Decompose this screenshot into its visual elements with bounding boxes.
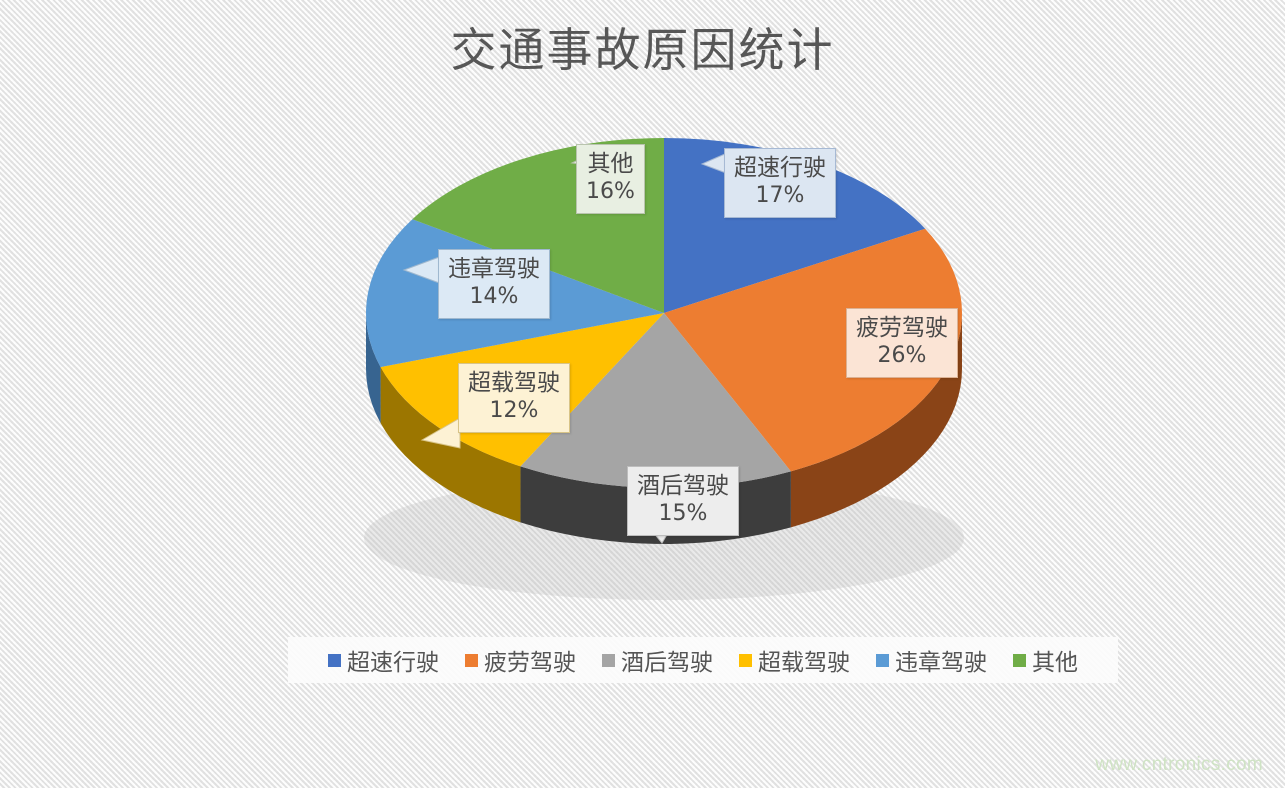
data-label-other-value: 16% (586, 179, 635, 206)
legend-item-label: 违章驾驶 (895, 643, 987, 677)
legend-swatch-icon (739, 654, 752, 667)
legend-item[interactable]: 疲劳驾驶 (465, 643, 576, 677)
chart-canvas: 交通事故原因统计 (0, 0, 1285, 788)
data-label-drunk-name: 酒后驾驶 (637, 472, 729, 500)
watermark: www.cntronics.com (1095, 754, 1263, 776)
legend-item-label: 超速行驶 (347, 643, 439, 677)
legend-swatch-icon (328, 654, 341, 667)
data-label-fatigue: 疲劳驾驶 26% (846, 308, 958, 378)
legend-item[interactable]: 超速行驶 (328, 643, 439, 677)
legend-swatch-icon (876, 654, 889, 667)
data-label-violation: 违章驾驶 14% (438, 249, 550, 319)
data-label-speeding-value: 17% (734, 183, 826, 210)
data-label-other: 其他 16% (576, 144, 645, 214)
data-label-violation-value: 14% (448, 284, 540, 311)
data-label-overload: 超载驾驶 12% (458, 363, 570, 433)
legend-swatch-icon (1013, 654, 1026, 667)
data-label-fatigue-value: 26% (856, 343, 948, 370)
chart-legend: 超速行驶疲劳驾驶酒后驾驶超载驾驶违章驾驶其他 (288, 637, 1118, 683)
data-label-other-name: 其他 (586, 150, 635, 178)
data-label-drunk-value: 15% (637, 501, 729, 528)
legend-swatch-icon (602, 654, 615, 667)
legend-item[interactable]: 超载驾驶 (739, 643, 850, 677)
legend-item-label: 超载驾驶 (758, 643, 850, 677)
legend-item-label: 其他 (1032, 643, 1078, 677)
data-label-overload-name: 超载驾驶 (468, 369, 560, 397)
legend-swatch-icon (465, 654, 478, 667)
legend-item-label: 疲劳驾驶 (484, 643, 576, 677)
legend-item[interactable]: 其他 (1013, 643, 1078, 677)
legend-item[interactable]: 违章驾驶 (876, 643, 987, 677)
data-label-overload-value: 12% (468, 398, 560, 425)
data-label-violation-name: 违章驾驶 (448, 255, 540, 283)
legend-item-label: 酒后驾驶 (621, 643, 713, 677)
pie-chart: 超速行驶 17% 疲劳驾驶 26% 酒后驾驶 15% 超载驾驶 12% 违章驾驶… (362, 118, 968, 618)
data-label-fatigue-name: 疲劳驾驶 (856, 314, 948, 342)
data-label-drunk: 酒后驾驶 15% (627, 466, 739, 536)
legend-item[interactable]: 酒后驾驶 (602, 643, 713, 677)
chart-title: 交通事故原因统计 (0, 14, 1285, 80)
data-label-speeding: 超速行驶 17% (724, 148, 836, 218)
data-label-speeding-name: 超速行驶 (734, 154, 826, 182)
